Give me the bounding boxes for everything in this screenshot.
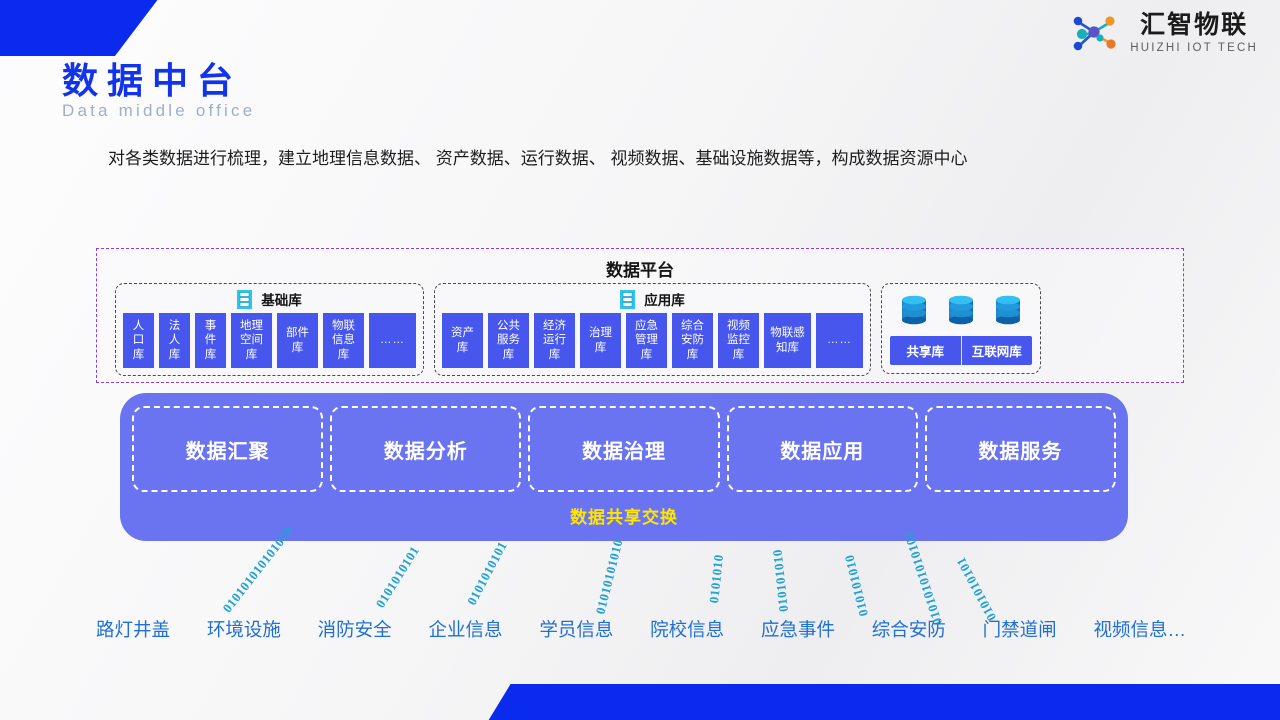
source-label[interactable]: 环境设施: [207, 616, 281, 642]
database-cylinder-icon: [991, 293, 1025, 327]
library-chip[interactable]: 物联 信息 库: [323, 313, 364, 368]
source-label[interactable]: 视频信息…: [1093, 616, 1186, 642]
library-base-title: 基础库: [261, 289, 302, 309]
bottom-source-labels: 路灯井盖 环境设施 消防安全 企业信息 学员信息 院校信息 应急事件 综合安防 …: [96, 616, 1186, 642]
page-title-block: 数据中台 Data middle office: [62, 62, 255, 121]
source-label[interactable]: 门禁道闸: [983, 616, 1057, 642]
source-label[interactable]: 企业信息: [428, 616, 502, 642]
capability-cell-analysis[interactable]: 数据分析: [330, 406, 521, 492]
library-base: 基础库 人 口 库 法 人 库 事 件 库 地理 空间 库 部件 库 物联 信息…: [115, 283, 424, 376]
binary-stream: 0101010101: [953, 554, 1000, 623]
library-chip[interactable]: 公共 服务 库: [488, 313, 529, 368]
library-base-header: 基础库: [123, 289, 416, 309]
library-chip[interactable]: 地理 空间 库: [231, 313, 272, 368]
library-chip[interactable]: 物联感 知库: [764, 313, 811, 368]
database-icon-row: [890, 291, 1032, 329]
page-title: 数据中台: [62, 62, 255, 100]
library-chip[interactable]: 应急 管理 库: [626, 313, 667, 368]
binary-stream: 0101010101: [464, 539, 511, 608]
data-platform-panel: 数据平台 基础库 人 口 库 法 人 库 事 件 库 地: [96, 248, 1184, 383]
library-row: 基础库 人 口 库 法 人 库 事 件 库 地理 空间 库 部件 库 物联 信息…: [115, 283, 1041, 376]
library-chip[interactable]: 资产 库: [442, 313, 483, 368]
binary-stream: 01010101010101: [900, 529, 946, 627]
capability-cell-service[interactable]: 数据服务: [925, 406, 1116, 492]
slide-canvas: 汇智物联 HUIZHI IOT TECH 数据中台 Data middle of…: [0, 0, 1280, 720]
capability-cells: 数据汇聚 数据分析 数据治理 数据应用 数据服务: [120, 393, 1128, 492]
library-chip-more[interactable]: ……: [816, 313, 863, 368]
library-base-chips: 人 口 库 法 人 库 事 件 库 地理 空间 库 部件 库 物联 信息 库 ……: [123, 313, 416, 368]
description-text: 对各类数据进行梳理，建立地理信息数据、 资产数据、运行数据、 视频数据、基础设施…: [108, 138, 1178, 180]
binary-stream: 0101010: [706, 554, 727, 604]
library-chip[interactable]: 综合 安防 库: [672, 313, 713, 368]
brand-logo: 汇智物联 HUIZHI IOT TECH: [1069, 12, 1258, 56]
source-label[interactable]: 综合安防: [872, 616, 946, 642]
library-chip[interactable]: 治理 库: [580, 313, 621, 368]
shared-library-button[interactable]: 共享库: [890, 336, 961, 365]
capability-cell-aggregation[interactable]: 数据汇聚: [132, 406, 323, 492]
source-label[interactable]: 学员信息: [539, 616, 613, 642]
library-chip[interactable]: 人 口 库: [123, 313, 154, 368]
internet-library-button[interactable]: 互联网库: [961, 336, 1033, 365]
database-cylinder-icon: [944, 293, 978, 327]
capability-cell-governance[interactable]: 数据治理: [528, 406, 719, 492]
library-chip[interactable]: 经济 运行 库: [534, 313, 575, 368]
source-label[interactable]: 应急事件: [761, 616, 835, 642]
share-library-panel: 共享库 互联网库: [881, 283, 1041, 374]
source-label[interactable]: 路灯井盖: [96, 616, 170, 642]
binary-stream: 010101010: [770, 548, 792, 612]
database-cylinder-icon: [897, 293, 931, 327]
binary-stream: 01010101010: [592, 537, 626, 616]
page-subtitle: Data middle office: [62, 101, 255, 121]
database-stack-icon: [620, 290, 635, 309]
logo-company-name: 汇智物联: [1140, 13, 1248, 38]
capability-cell-application[interactable]: 数据应用: [727, 406, 918, 492]
library-chip[interactable]: 法 人 库: [159, 313, 190, 368]
top-left-accent-shape: [0, 0, 162, 56]
source-label[interactable]: 院校信息: [650, 616, 724, 642]
database-stack-icon: [237, 290, 252, 309]
share-buttons: 共享库 互联网库: [890, 336, 1032, 365]
data-sharing-exchange-label: 数据共享交换: [120, 503, 1128, 528]
data-platform-title: 数据平台: [97, 256, 1183, 281]
library-chip[interactable]: 视频 监控 库: [718, 313, 759, 368]
library-application-header: 应用库: [442, 289, 863, 309]
library-application-title: 应用库: [644, 289, 685, 309]
bottom-right-accent-bar: [485, 684, 1280, 720]
library-chip[interactable]: 事 件 库: [195, 313, 226, 368]
library-chip-more[interactable]: ……: [369, 313, 416, 368]
logo-company-tagline: HUIZHI IOT TECH: [1130, 43, 1258, 55]
binary-stream: 0101010101: [372, 543, 423, 611]
molecule-network-icon: [1069, 12, 1121, 56]
library-application: 应用库 资产 库 公共 服务 库 经济 运行 库 治理 库 应急 管理 库 综合…: [434, 283, 871, 376]
library-application-chips: 资产 库 公共 服务 库 经济 运行 库 治理 库 应急 管理 库 综合 安防 …: [442, 313, 863, 368]
source-label[interactable]: 消防安全: [318, 616, 392, 642]
library-chip[interactable]: 部件 库: [277, 313, 318, 368]
capability-band: 数据汇聚 数据分析 数据治理 数据应用 数据服务 数据共享交换: [120, 393, 1128, 541]
binary-stream: 010101010: [841, 553, 872, 618]
